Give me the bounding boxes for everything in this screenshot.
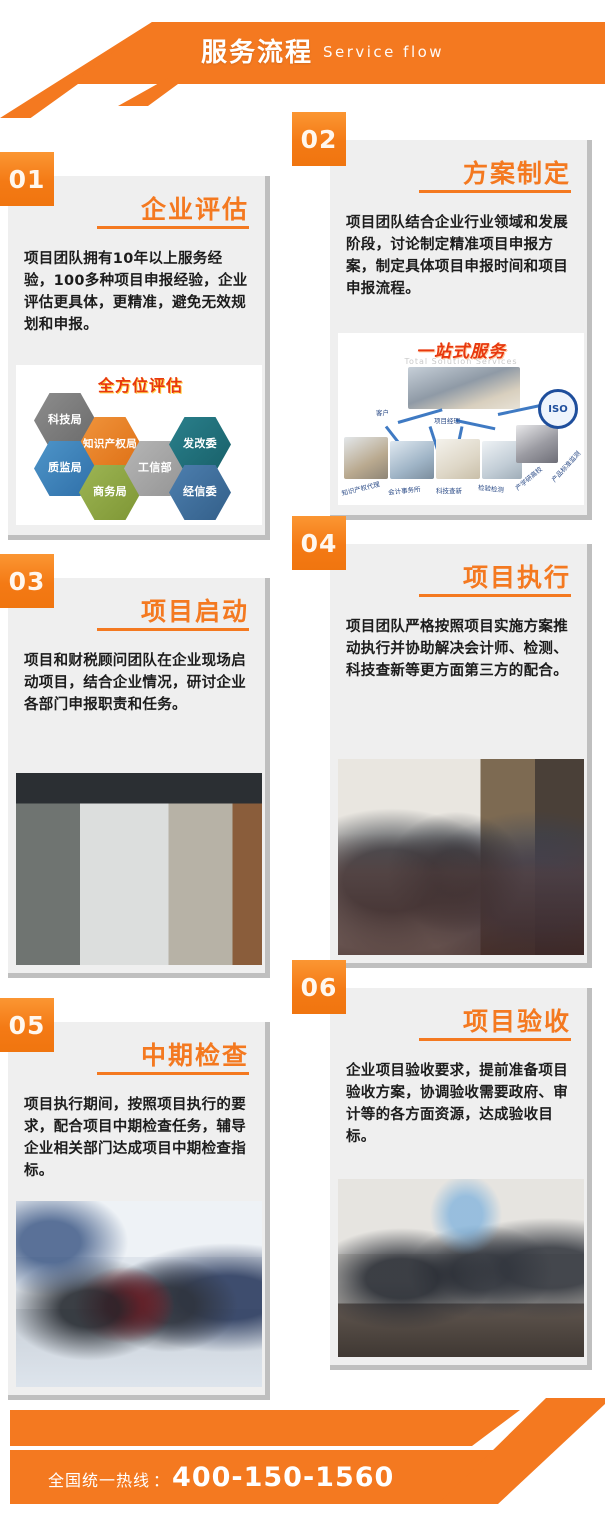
card-body-text: 项目执行期间，按照项目执行的要求，配合项目中期检查任务，辅导企业相关部门达成项目… <box>24 1094 249 1182</box>
photo-overlay <box>338 1179 584 1357</box>
hotline-phone-number[interactable]: 400-150-1560 <box>172 1462 394 1493</box>
photo-overlay <box>16 773 262 965</box>
card-photo <box>16 1201 262 1387</box>
collage-service-testing: 检验检测 <box>478 482 505 495</box>
collage-service-ip: 知识产权代理 <box>340 478 380 497</box>
card-photo <box>338 1179 584 1357</box>
step-number-badge: 01 <box>0 152 54 206</box>
card-body-text: 项目团队严格按照项目实施方案推动执行并协助解决会计师、检测、科技查新等更方面第三… <box>346 616 571 682</box>
step-card-05[interactable]: 05 中期检查 项目执行期间，按照项目执行的要求，配合项目中期检查任务，辅导企业… <box>8 1022 270 1400</box>
photo-overlay <box>16 1201 262 1387</box>
step-number-badge: 04 <box>292 516 346 570</box>
collage-node-manager: 项目经理 <box>434 415 460 425</box>
title-underline <box>97 226 249 229</box>
step-number-badge: 06 <box>292 960 346 1014</box>
step-card-03[interactable]: 03 项目启动 项目和财税顾问团队在企业现场启动项目，结合企业情况，研讨企业各部… <box>8 578 270 978</box>
collage-photo-university <box>516 425 558 463</box>
collage-photo-ip <box>344 437 388 479</box>
card-title: 项目启动 <box>141 592 249 628</box>
collage-subtitle: Total Solution Services <box>338 357 584 366</box>
card-title: 项目验收 <box>463 1002 571 1038</box>
card-header: 方案制定 <box>330 140 587 212</box>
page-title: 服务流程 <box>201 32 313 69</box>
hexagon-diagram-title: 全方位评估 <box>98 372 183 396</box>
step-card-02[interactable]: 02 方案制定 项目团队结合企业行业领域和发展阶段，讨论制定精准项目申报方案，制… <box>330 140 592 520</box>
page-footer: 全国统一热线 ： 400-150-1560 <box>0 1398 605 1538</box>
title-underline <box>97 1072 249 1075</box>
step-number-badge: 02 <box>292 112 346 166</box>
card-header: 项目验收 <box>330 988 587 1060</box>
header-title-group: 服务流程 Service flow <box>0 28 605 72</box>
collage-node-customer: 客户 <box>376 407 389 417</box>
title-underline <box>97 628 249 631</box>
step-number-badge: 03 <box>0 554 54 608</box>
step-card-04[interactable]: 04 项目执行 项目团队严格按照项目实施方案推动执行并协助解决会计师、检测、科技… <box>330 544 592 968</box>
collage-service-research: 科技查新 <box>436 485 462 495</box>
step-number-badge: 05 <box>0 998 54 1052</box>
hexagon-diagram: 全方位评估 科技局 知识产权局 质监局 商务局 工信部 发改委 经信委 <box>16 365 262 525</box>
card-body-text: 项目和财税顾问团队在企业现场启动项目，结合企业情况，研讨企业各部门申报职责和任务… <box>24 650 249 716</box>
collage-photo-meeting <box>408 367 520 409</box>
title-underline <box>419 1038 571 1041</box>
title-underline <box>419 190 571 193</box>
iso-seal-icon <box>538 389 578 429</box>
hotline-label: 全国统一热线 <box>48 1467 150 1491</box>
card-photo <box>338 759 584 955</box>
collage-photo-research <box>436 439 480 479</box>
card-title: 企业评估 <box>141 190 249 226</box>
hotline-group[interactable]: 全国统一热线 ： 400-150-1560 <box>48 1462 394 1493</box>
card-header: 项目执行 <box>330 544 587 616</box>
card-title: 方案制定 <box>463 154 571 190</box>
page-header: 服务流程 Service flow <box>0 0 605 120</box>
card-body-text: 项目团队拥有10年以上服务经验，100多种项目申报经验，企业评估更具体，更精准，… <box>24 248 249 336</box>
one-stop-service-collage: 一站式服务 Total Solution Services 客户 项目经理 知识… <box>338 333 584 505</box>
step-card-06[interactable]: 06 项目验收 企业项目验收要求，提前准备项目验收方案，协调验收需要政府、审计等… <box>330 988 592 1370</box>
step-card-01[interactable]: 01 企业评估 项目团队拥有10年以上服务经验，100多种项目申报经验，企业评估… <box>8 176 270 540</box>
card-body-text: 企业项目验收要求，提前准备项目验收方案，协调验收需要政府、审计等的各方面资源，达… <box>346 1060 571 1148</box>
collage-service-accounting: 会计事务所 <box>388 483 421 496</box>
card-body-text: 项目团队结合企业行业领域和发展阶段，讨论制定精准项目申报方案，制定具体项目申报时… <box>346 212 571 300</box>
photo-overlay <box>338 759 584 955</box>
title-underline <box>419 594 571 597</box>
card-title: 项目执行 <box>463 558 571 594</box>
card-title: 中期检查 <box>141 1036 249 1072</box>
collage-photo-accounting <box>390 441 434 479</box>
card-photo <box>16 773 262 965</box>
page-subtitle: Service flow <box>323 39 444 61</box>
hotline-colon: ： <box>153 1467 169 1491</box>
